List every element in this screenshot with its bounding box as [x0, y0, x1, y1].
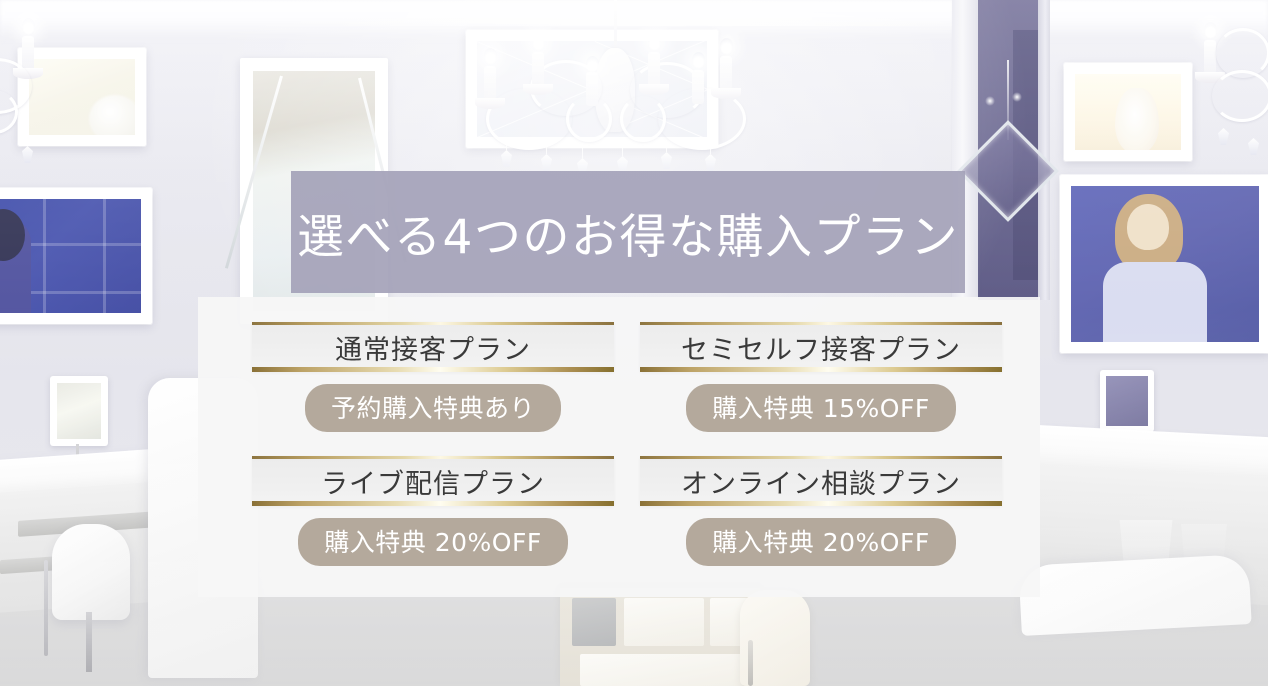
plan-title-box: セミセルフ接客プラン [640, 322, 1002, 372]
plan-benefit-badge: 予約購入特典あり [305, 384, 561, 432]
promo-overlay: 選べる4つのお得な購入プラン 通常接客プラン 予約購入特典あり セミセルフ接客プ… [0, 0, 1268, 686]
plan-card-semi-self[interactable]: セミセルフ接客プラン 購入特典 15%OFF [640, 322, 1002, 432]
plan-benefit-badge: 購入特典 15%OFF [686, 384, 955, 432]
plan-benefit-badge: 購入特典 20%OFF [686, 518, 955, 566]
page-title: 選べる4つのお得な購入プラン [297, 198, 959, 267]
plans-grid: 通常接客プラン 予約購入特典あり セミセルフ接客プラン 購入特典 15%OFF … [252, 322, 986, 566]
plan-badge-row: 購入特典 20%OFF [252, 518, 614, 566]
plan-badge-row: 購入特典 15%OFF [640, 384, 1002, 432]
plan-benefit-badge: 購入特典 20%OFF [298, 518, 567, 566]
plan-title-box: ライブ配信プラン [252, 456, 614, 506]
plan-card-online-consultation[interactable]: オンライン相談プラン 購入特典 20%OFF [640, 456, 1002, 566]
plan-badge-row: 予約購入特典あり [252, 384, 614, 432]
plan-title: ライブ配信プラン [321, 462, 545, 501]
plan-card-live-streaming[interactable]: ライブ配信プラン 購入特典 20%OFF [252, 456, 614, 566]
plan-card-normal[interactable]: 通常接客プラン 予約購入特典あり [252, 322, 614, 432]
title-banner: 選べる4つのお得な購入プラン [291, 171, 965, 293]
plan-title: セミセルフ接客プラン [681, 328, 961, 367]
plan-badge-row: 購入特典 20%OFF [640, 518, 1002, 566]
plans-panel: 通常接客プラン 予約購入特典あり セミセルフ接客プラン 購入特典 15%OFF … [198, 297, 1040, 597]
plan-title: 通常接客プラン [335, 328, 531, 367]
plan-title-box: 通常接客プラン [252, 322, 614, 372]
plan-title: オンライン相談プラン [681, 462, 961, 501]
plan-title-box: オンライン相談プラン [640, 456, 1002, 506]
